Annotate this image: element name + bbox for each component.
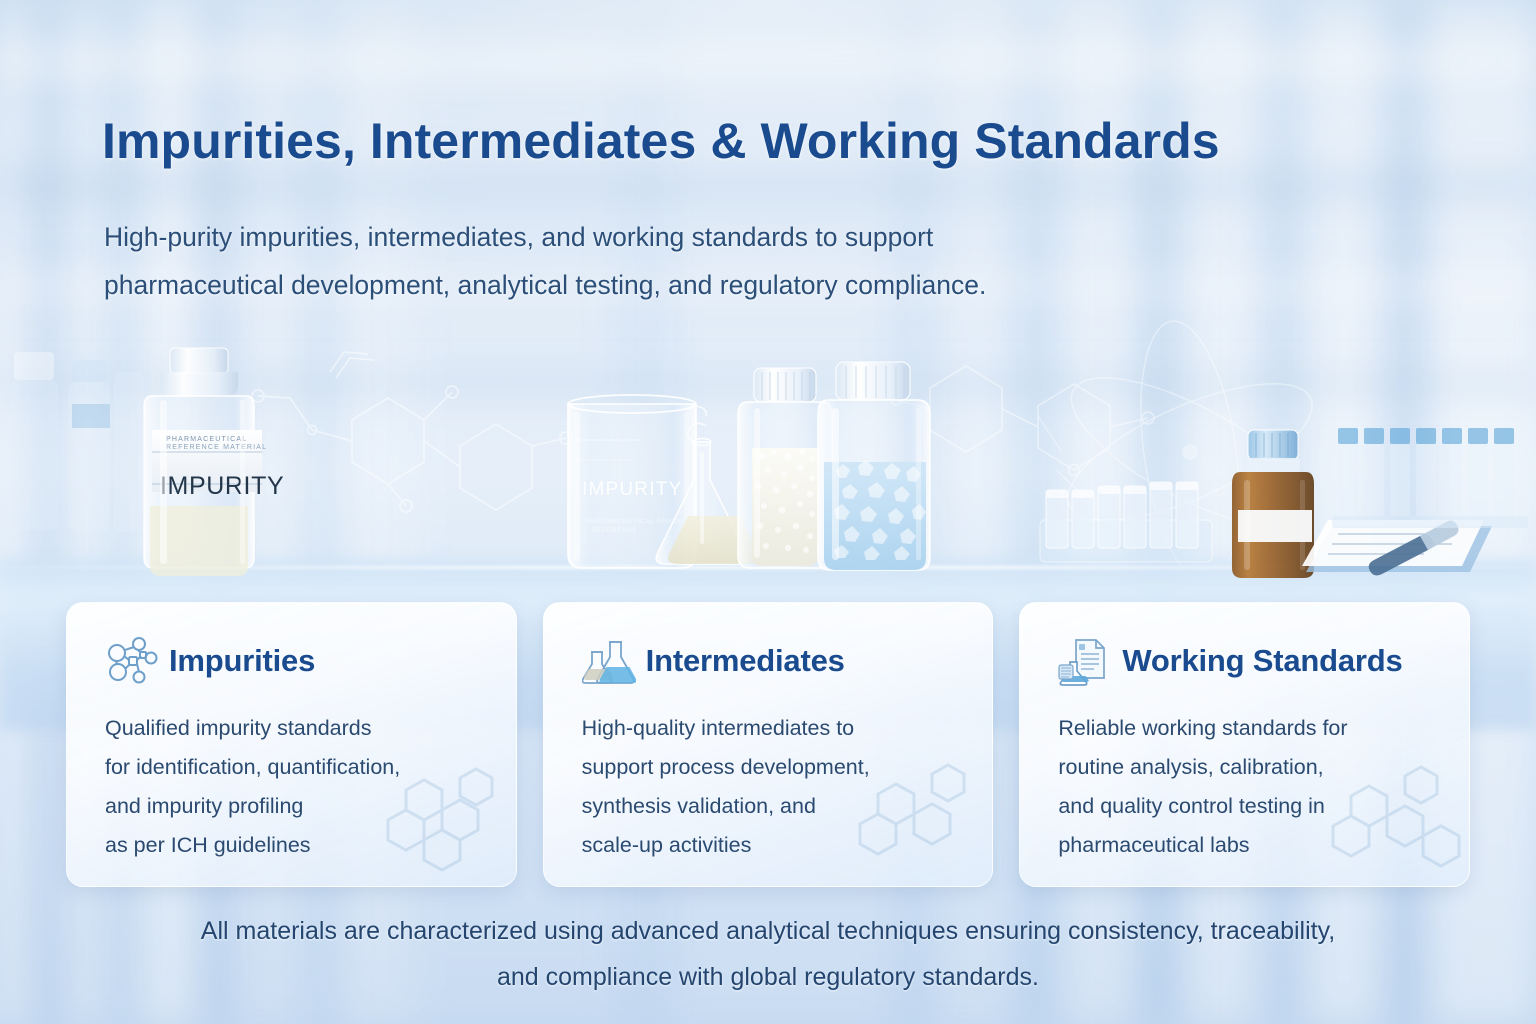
infographic-stage: PHARMACEUTICAL REFERENCE MATERIAL IMPURI… — [0, 0, 1536, 1024]
card-desc-line: routine analysis, calibration, — [1058, 748, 1441, 787]
page-subtitle: High-purity impurities, intermediates, a… — [104, 213, 1284, 309]
card-desc-line: and impurity profiling — [105, 787, 488, 826]
card-desc-line: and quality control testing in — [1058, 787, 1441, 826]
card-desc-line: High-quality intermediates to — [582, 709, 965, 748]
card-desc-line: as per ICH guidelines — [105, 826, 488, 865]
card-description: Qualified impurity standards for identif… — [105, 709, 488, 865]
card-impurities[interactable]: Impurities Qualified impurity standards … — [66, 602, 517, 887]
flasks-icon — [582, 636, 636, 686]
subtitle-line-1: High-purity impurities, intermediates, a… — [104, 213, 1284, 261]
card-title: Intermediates — [646, 643, 845, 679]
footer-line-2: and compliance with global regulatory st… — [0, 954, 1536, 1000]
feature-card-list: Impurities Qualified impurity standards … — [66, 602, 1470, 887]
card-header: Intermediates — [582, 633, 965, 689]
card-desc-line: Reliable working standards for — [1058, 709, 1441, 748]
card-desc-line: scale-up activities — [582, 826, 965, 865]
card-desc-line: pharmaceutical labs — [1058, 826, 1441, 865]
card-working-standards[interactable]: Working Standards Reliable working stand… — [1019, 602, 1470, 887]
card-description: Reliable working standards for routine a… — [1058, 709, 1441, 865]
subtitle-line-2: pharmaceutical development, analytical t… — [104, 261, 1284, 309]
card-header: Working Standards — [1058, 633, 1441, 689]
card-desc-line: synthesis validation, and — [582, 787, 965, 826]
card-title: Working Standards — [1122, 643, 1402, 679]
molecule-icon — [105, 636, 159, 686]
card-intermediates[interactable]: Intermediates High-quality intermediates… — [543, 602, 994, 887]
footer-line-1: All materials are characterized using ad… — [0, 908, 1536, 954]
card-desc-line: support process development, — [582, 748, 965, 787]
document-flask-icon — [1058, 636, 1112, 686]
card-desc-line: Qualified impurity standards — [105, 709, 488, 748]
card-description: High-quality intermediates to support pr… — [582, 709, 965, 865]
card-desc-line: for identification, quantification, — [105, 748, 488, 787]
footer-note: All materials are characterized using ad… — [0, 908, 1536, 1000]
page-title: Impurities, Intermediates & Working Stan… — [102, 112, 1220, 170]
card-title: Impurities — [169, 643, 315, 679]
card-header: Impurities — [105, 633, 488, 689]
